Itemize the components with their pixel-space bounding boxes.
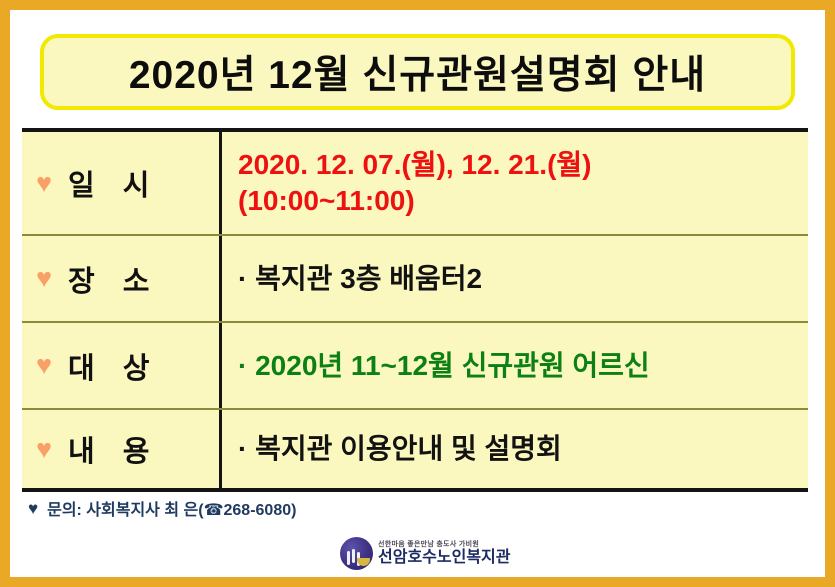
row-value-line: 2020. 12. 07.(월), 12. 21.(월) [238,147,800,183]
contact-text: 문의: 사회복지사 최 은(☎268-6080) [47,496,296,520]
info-table: ♥ 일 시 2020. 12. 07.(월), 12. 21.(월) (10:0… [22,128,808,492]
contact-footer: ♥ 문의: 사회복지사 최 은(☎268-6080) [28,496,296,520]
page-title: 2020년 12월 신규관원설명회 안내 [129,44,706,100]
logo-emblem-icon [340,537,373,570]
row-value-cell-ilsi: 2020. 12. 07.(월), 12. 21.(월) (10:00~11:0… [222,132,808,234]
row-label-cell-naeyong: ♥ 내 용 [22,410,222,488]
row-label-naeyong: 내 용 [68,428,159,470]
heart-icon: ♥ [36,170,52,197]
row-label-cell-daesang: ♥ 대 상 [22,323,222,408]
heart-icon: ♥ [36,265,52,292]
logo-tagline: 선한마음 좋은만남 충도사 가비원 [378,541,510,549]
logo-name: 선암호수노인복지관 [378,549,510,567]
heart-icon: ♥ [36,436,52,463]
organization-logo: 선한마음 좋은만남 충도사 가비원 선암호수노인복지관 [340,537,510,570]
row-label-jangso: 장 소 [68,258,159,300]
title-banner: 2020년 12월 신규관원설명회 안내 [40,34,795,110]
table-row: ♥ 내 용 · 복지관 이용안내 및 설명회 [22,410,808,488]
logo-text-group: 선한마음 좋은만남 충도사 가비원 선암호수노인복지관 [378,541,510,566]
title-box: 2020년 12월 신규관원설명회 안내 [40,34,795,110]
row-label-cell-jangso: ♥ 장 소 [22,236,222,321]
row-label-daesang: 대 상 [68,345,159,387]
row-value-line: · 2020년 11~12월 신규관원 어르신 [238,348,800,384]
row-label-cell-ilsi: ♥ 일 시 [22,132,222,234]
poster-frame: 2020년 12월 신규관원설명회 안내 ♥ 일 시 2020. 12. 07.… [0,0,835,587]
table-row: ♥ 일 시 2020. 12. 07.(월), 12. 21.(월) (10:0… [22,132,808,236]
table-row: ♥ 장 소 · 복지관 3층 배움터2 [22,236,808,323]
heart-icon: ♥ [28,500,38,517]
row-value-cell-jangso: · 복지관 3층 배움터2 [222,236,808,321]
row-value-cell-daesang: · 2020년 11~12월 신규관원 어르신 [222,323,808,408]
heart-icon: ♥ [36,352,52,379]
row-value-cell-naeyong: · 복지관 이용안내 및 설명회 [222,410,808,488]
row-label-ilsi: 일 시 [68,162,159,204]
row-value-line: · 복지관 3층 배움터2 [238,261,800,297]
table-row: ♥ 대 상 · 2020년 11~12월 신규관원 어르신 [22,323,808,410]
row-value-line: (10:00~11:00) [238,183,800,219]
row-value-line: · 복지관 이용안내 및 설명회 [238,431,800,467]
